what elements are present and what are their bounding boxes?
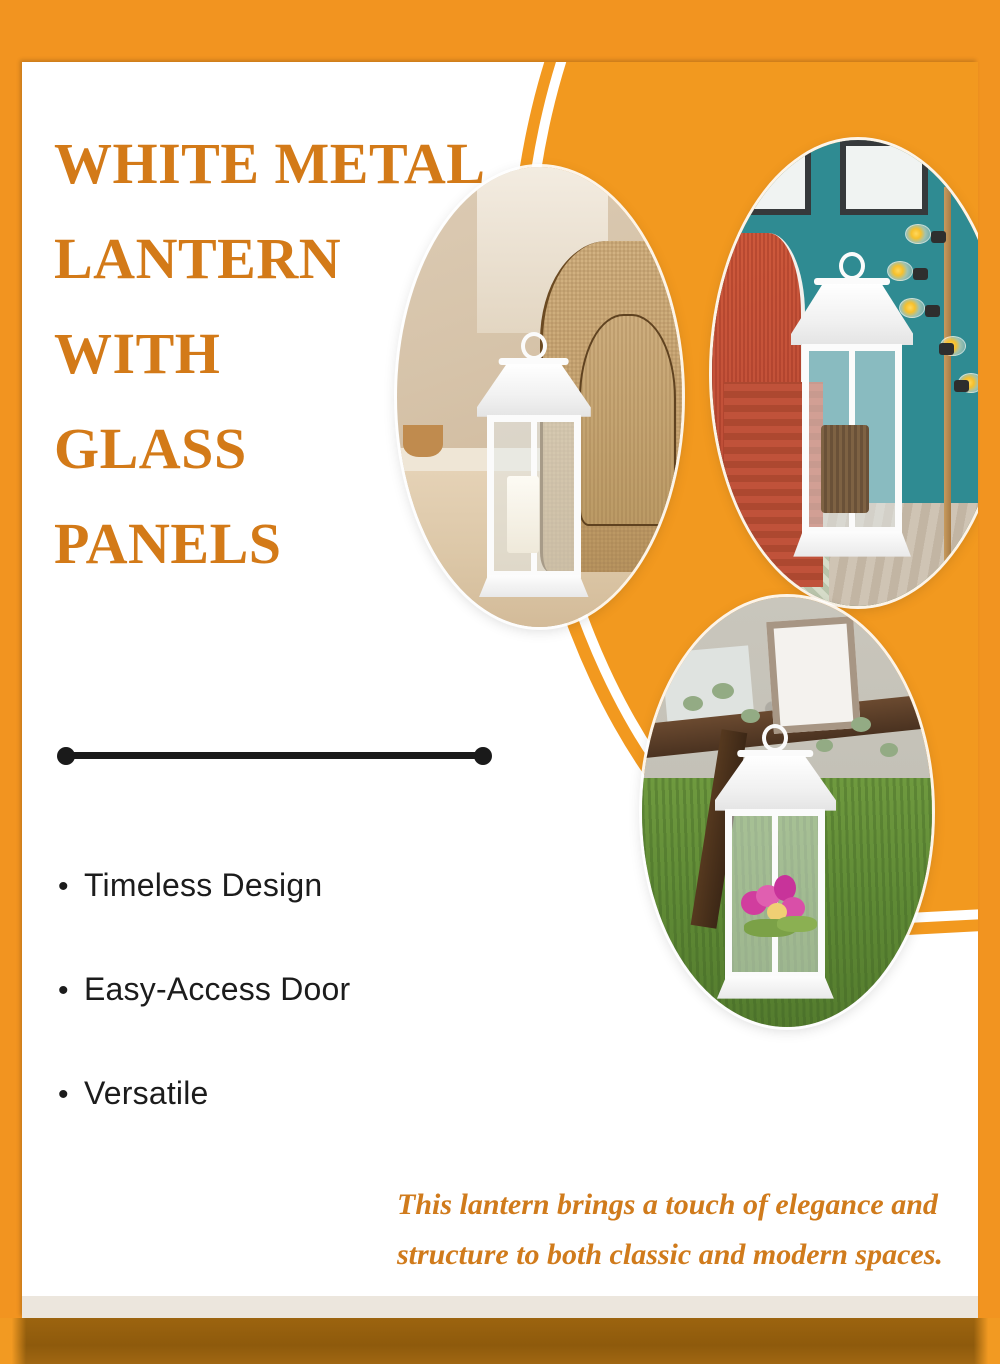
white-lantern (477, 360, 591, 599)
tagline-line-2: structure to both classic and modern spa… (397, 1230, 957, 1280)
lantern-glass-body (487, 415, 580, 578)
product-infographic-poster: WHITE METAL LANTERN WITH GLASS PANELS • … (0, 0, 1000, 1364)
lantern-glass-body (725, 809, 825, 979)
page-bottom-strip (22, 1296, 978, 1318)
foliage (777, 916, 817, 932)
bullet-icon: • (58, 872, 84, 902)
eucalyptus-leaf (712, 683, 734, 699)
lantern-hanging-ring (839, 252, 865, 280)
lantern-base (479, 575, 588, 597)
bulb-socket (913, 268, 928, 280)
bulb-socket (931, 231, 946, 243)
lantern-base (793, 531, 911, 556)
eucalyptus-leaf (880, 743, 898, 757)
eucalyptus-leaf (816, 739, 833, 752)
bullet-icon: • (58, 976, 84, 1006)
feature-item-timeless-design: • Timeless Design (58, 867, 508, 904)
photo-lantern-in-teal-room (712, 140, 978, 606)
lantern-top-cap (498, 358, 569, 365)
poster-page: WHITE METAL LANTERN WITH GLASS PANELS • … (22, 62, 978, 1318)
photo-lantern-in-living-room (397, 167, 682, 627)
pillar-candle (507, 476, 539, 553)
edison-bulb-icon (905, 224, 931, 244)
feature-list: • Timeless Design • Easy-Access Door • V… (58, 867, 508, 1179)
bulb-socket (925, 305, 940, 317)
white-lantern (715, 752, 837, 1001)
bullet-icon: • (58, 1080, 84, 1110)
lantern-hanging-ring (762, 724, 788, 752)
lantern-roof (791, 284, 914, 346)
window-pane (735, 140, 811, 215)
lantern-top-cap (738, 750, 814, 757)
divider-line (65, 752, 484, 759)
divider-dot-right (474, 747, 492, 765)
tagline-line-1: This lantern brings a touch of elegance … (397, 1180, 957, 1230)
feature-item-easy-access-door: • Easy-Access Door (58, 971, 508, 1008)
lantern-top-cap (814, 278, 890, 285)
lantern-glass-body (802, 344, 903, 534)
bulb-socket (939, 343, 954, 355)
log-candle (821, 425, 869, 513)
lantern-roof (715, 756, 837, 811)
feature-label: Versatile (84, 1075, 209, 1112)
feature-label: Timeless Design (84, 867, 322, 904)
picture-frame (766, 616, 861, 734)
tagline: This lantern brings a touch of elegance … (397, 1180, 957, 1280)
string-light-pole (944, 187, 951, 578)
eucalyptus-leaf (683, 696, 703, 711)
window-pane (840, 140, 928, 215)
photo-lantern-with-flowers-outdoors (642, 597, 932, 1027)
feature-item-versatile: • Versatile (58, 1075, 508, 1112)
bulb-socket (954, 380, 969, 392)
bottom-border-band (0, 1318, 1000, 1364)
lantern-hanging-ring (521, 332, 547, 360)
eucalyptus-leaf (741, 709, 760, 723)
lantern-roof (477, 364, 591, 417)
armchair-arm (579, 314, 676, 526)
feature-label: Easy-Access Door (84, 971, 350, 1008)
white-lantern (791, 280, 914, 560)
lantern-base (717, 976, 834, 998)
living-room-bowl (403, 425, 443, 457)
section-divider (57, 747, 492, 765)
